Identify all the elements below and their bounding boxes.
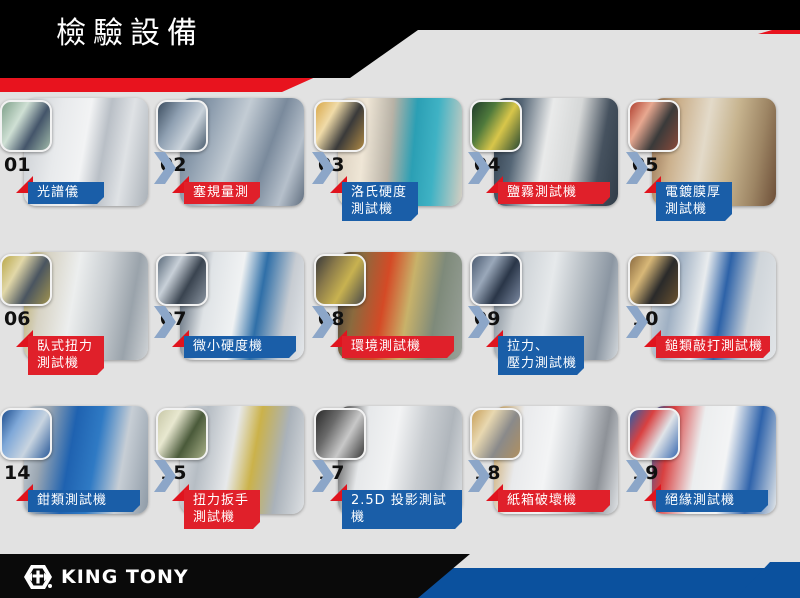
king-tony-hex-mark-icon [24,565,52,589]
equipment-thumbnail [314,100,366,152]
equipment-thumbnail [0,254,52,306]
equipment-cell: 15扭力扳手 測試機 [156,404,304,558]
equipment-row: 01光譜儀02塞規量測03洛氏硬度 測試機04鹽霧測試機05電鍍膜厚 測試機 [0,96,800,250]
equipment-thumbnail [628,100,680,152]
equipment-cell: 02塞規量測 [156,96,304,250]
equipment-label-banner: 鉗類測試機 [28,490,140,512]
step-number: 01 [4,154,30,176]
equipment-label-banner: 鎚類敲打測試機 [656,336,770,358]
equipment-cell: 18紙箱破壞機 [470,404,618,558]
equipment-card[interactable]: 02塞規量測 [156,96,304,250]
equipment-thumbnail [314,408,366,460]
equipment-cell: 01光譜儀 [0,96,148,250]
equipment-label-banner: 臥式扭力 測試機 [28,336,104,375]
equipment-cell: 03洛氏硬度 測試機 [314,96,462,250]
equipment-label-banner: 拉力、 壓力測試機 [498,336,584,375]
equipment-cell: 19絕緣測試機 [628,404,776,558]
equipment-thumbnail [156,408,208,460]
equipment-thumbnail [470,100,522,152]
equipment-label-banner: 環境測試機 [342,336,454,358]
equipment-thumbnail [156,100,208,152]
equipment-grid: 01光譜儀02塞規量測03洛氏硬度 測試機04鹽霧測試機05電鍍膜厚 測試機06… [0,96,800,558]
equipment-card[interactable]: 19絕緣測試機 [628,404,776,558]
equipment-label-banner: 鹽霧測試機 [498,182,610,204]
equipment-thumbnail [628,408,680,460]
page-title: 檢驗設備 [56,8,204,52]
equipment-card[interactable]: 05電鍍膜厚 測試機 [628,96,776,250]
equipment-card[interactable]: 01光譜儀 [0,96,148,250]
equipment-label-banner: 扭力扳手 測試機 [184,490,260,529]
equipment-cell: 10鎚類敲打測試機 [628,250,776,404]
equipment-label-banner: 2.5D 投影測試機 [342,490,462,529]
equipment-cell: 05電鍍膜厚 測試機 [628,96,776,250]
equipment-label-banner: 絕緣測試機 [656,490,768,512]
equipment-thumbnail [470,254,522,306]
equipment-card[interactable]: 04鹽霧測試機 [470,96,618,250]
equipment-card[interactable]: 03洛氏硬度 測試機 [314,96,462,250]
equipment-card[interactable]: 18紙箱破壞機 [470,404,618,558]
step-number: 14 [4,462,30,484]
equipment-card[interactable]: 07微小硬度機 [156,250,304,404]
brand-logo: KING TONY [24,565,189,589]
equipment-card[interactable]: 06臥式扭力 測試機 [0,250,148,404]
slide-root: 檢驗設備 01光譜儀02塞規量測03洛氏硬度 測試機04鹽霧測試機05電鍍膜厚 … [0,0,800,598]
equipment-row: 14鉗類測試機15扭力扳手 測試機172.5D 投影測試機18紙箱破壞機19絕緣… [0,404,800,558]
equipment-label-banner: 電鍍膜厚 測試機 [656,182,732,221]
equipment-cell: 08環境測試機 [314,250,462,404]
equipment-thumbnail [156,254,208,306]
equipment-row: 06臥式扭力 測試機07微小硬度機08環境測試機09拉力、 壓力測試機10鎚類敲… [0,250,800,404]
equipment-cell: 09拉力、 壓力測試機 [470,250,618,404]
equipment-card[interactable]: 172.5D 投影測試機 [314,404,462,558]
equipment-label-banner: 微小硬度機 [184,336,296,358]
equipment-cell: 04鹽霧測試機 [470,96,618,250]
brand-name: KING TONY [61,566,189,588]
equipment-card[interactable]: 15扭力扳手 測試機 [156,404,304,558]
equipment-card[interactable]: 10鎚類敲打測試機 [628,250,776,404]
equipment-label-banner: 紙箱破壞機 [498,490,610,512]
equipment-cell: 14鉗類測試機 [0,404,148,558]
equipment-cell: 06臥式扭力 測試機 [0,250,148,404]
step-number: 06 [4,308,30,330]
equipment-thumbnail [628,254,680,306]
equipment-card[interactable]: 08環境測試機 [314,250,462,404]
equipment-thumbnail [0,100,52,152]
equipment-cell: 172.5D 投影測試機 [314,404,462,558]
equipment-thumbnail [0,408,52,460]
equipment-cell: 07微小硬度機 [156,250,304,404]
equipment-label-banner: 光譜儀 [28,182,104,204]
equipment-thumbnail [470,408,522,460]
equipment-card[interactable]: 09拉力、 壓力測試機 [470,250,618,404]
equipment-card[interactable]: 14鉗類測試機 [0,404,148,558]
equipment-label-banner: 塞規量測 [184,182,260,204]
equipment-label-banner: 洛氏硬度 測試機 [342,182,418,221]
equipment-thumbnail [314,254,366,306]
